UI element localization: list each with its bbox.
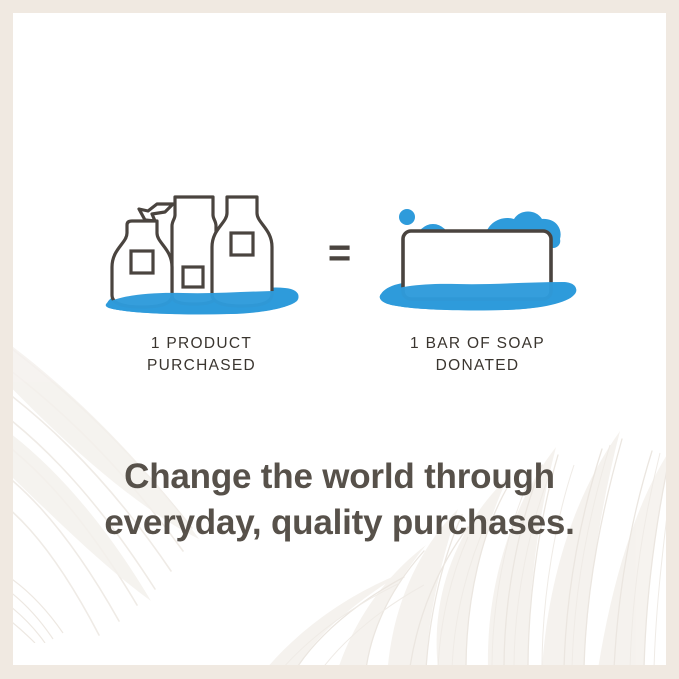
promise-item-soap: 1 BAR OF SOAP DONATED bbox=[375, 191, 581, 377]
soap-bar-icon bbox=[375, 191, 581, 319]
promise-row: 1 PRODUCT PURCHASED = bbox=[13, 191, 666, 377]
poster-canvas: 1 PRODUCT PURCHASED = bbox=[13, 13, 666, 665]
pump-nozzle bbox=[139, 204, 173, 221]
water-front-overlap bbox=[379, 282, 575, 310]
bubble-small-top bbox=[399, 209, 415, 225]
promise-caption-soap: 1 BAR OF SOAP DONATED bbox=[410, 333, 545, 377]
promise-caption-product: 1 PRODUCT PURCHASED bbox=[147, 333, 256, 377]
three-bottles-icon bbox=[99, 191, 305, 319]
bottle-center-label bbox=[183, 267, 203, 287]
bottle-right-label bbox=[231, 233, 253, 255]
headline-text: Change the world through everyday, quali… bbox=[13, 454, 666, 545]
equals-icon: = bbox=[328, 233, 351, 273]
bottle-pump-label bbox=[131, 251, 153, 273]
equals-operator: = bbox=[305, 191, 375, 273]
promise-item-product: 1 PRODUCT PURCHASED bbox=[99, 191, 305, 377]
promo-poster: 1 PRODUCT PURCHASED = bbox=[0, 0, 679, 679]
